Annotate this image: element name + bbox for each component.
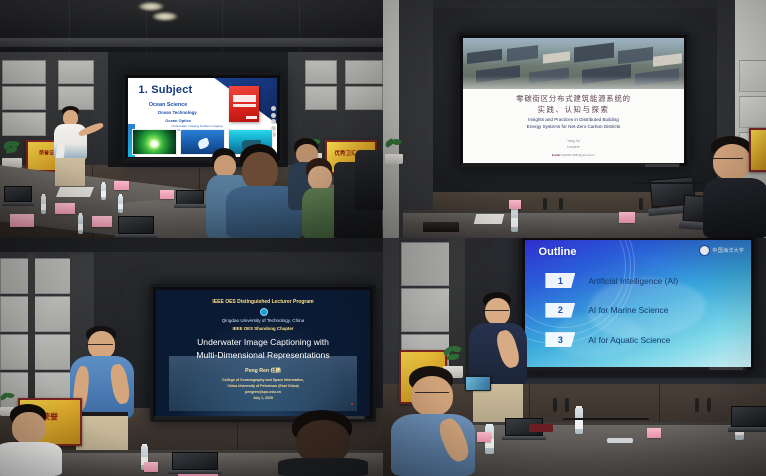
water-bottle [41, 196, 46, 214]
slide-author-email: E-mail: 901020170087@gdut.edu.cn [463, 154, 684, 157]
remote-control [607, 438, 633, 443]
water-bottle [511, 206, 518, 232]
slide-author-block: Yang Xu Lecturer [463, 139, 684, 150]
slide-title-zh-line1: 零碳街区分布式建筑能源系统的 [463, 93, 684, 104]
cable [633, 182, 703, 184]
slide-program-line: IEEE OES Distinguished Lecturer Program [156, 299, 370, 305]
photo-collage: 1. Subject Ocean Science Ocean Technolog… [0, 0, 766, 476]
email-label: E-mail: [552, 154, 561, 157]
laptop [731, 406, 766, 432]
conference-room-scene: 零碳街区分布式建筑能源系统的 实践、认知与探索 Insights and Pra… [383, 0, 766, 238]
panel-top-right: 零碳街区分布式建筑能源系统的 实践、认知与探索 Insights and Pra… [383, 0, 766, 238]
laptop [4, 186, 32, 206]
notebook [529, 424, 553, 432]
outline-item-number: 3 [545, 332, 575, 347]
panel-top-left: 1. Subject Ocean Science Ocean Technolog… [0, 0, 383, 238]
torso [703, 178, 766, 238]
outline-item-label: AI for Marine Science [588, 305, 668, 315]
cable [563, 418, 649, 420]
wall-display: 零碳街区分布式建筑能源系统的 实践、认知与探索 Insights and Pra… [457, 32, 690, 169]
name-card [114, 181, 129, 190]
audience-member-front-right [278, 410, 368, 476]
slide-author-role: Lecturer [463, 145, 684, 150]
panel-bottom-right: Outline 中国海洋大学 1 Artificial Intelligence… [383, 238, 766, 476]
award-plaque [749, 128, 766, 172]
logo-ring-icon [699, 245, 710, 256]
potted-plant [385, 140, 403, 164]
notebook [423, 222, 459, 232]
water-bottle [575, 408, 583, 434]
outline-item: 1 Artificial Intelligence (AI) [545, 273, 739, 288]
slide-title-zh-line2: 实践、认知与探索 [463, 104, 684, 115]
name-card [619, 212, 635, 223]
outline-item-label: AI for Aquatic Science [588, 335, 670, 345]
glasses-icon [711, 158, 743, 161]
email-value: 901020170087@gdut.edu.cn [561, 154, 595, 157]
ceiling [0, 0, 383, 57]
slide-bullet-level3: Ocean Optics [165, 118, 191, 123]
glasses-icon [87, 344, 113, 347]
laser-pointer-dot [351, 403, 353, 405]
ceiling-light [152, 12, 178, 21]
office-chair [355, 150, 383, 210]
outline-item-number: 1 [545, 273, 575, 288]
outline-list: 1 Artificial Intelligence (AI) 2 AI for … [545, 273, 739, 362]
smartphone[interactable] [465, 376, 491, 391]
laptop [172, 452, 218, 474]
outline-item: 3 AI for Aquatic Science [545, 332, 739, 347]
outline-item: 2 AI for Marine Science [545, 303, 739, 318]
slide-title: 1. Subject [138, 84, 192, 96]
slide-bullet-level1: Ocean Science [149, 102, 187, 108]
laptop [118, 216, 154, 238]
slide-ieee-oes-title: IEEE OES Distinguished Lecturer Program … [156, 290, 370, 416]
outline-item-number: 2 [545, 303, 575, 318]
water-bottle [118, 196, 123, 213]
slide-outline: Outline 中国海洋大学 1 Artificial Intelligence… [525, 240, 751, 367]
slide-hero-photo [463, 38, 684, 89]
slide-date: July 1, 2025 [156, 395, 370, 401]
conference-room-scene: IEEE OES Distinguished Lecturer Program … [0, 238, 383, 476]
slide-title-en: Insights and Practices in Distributed Bu… [463, 116, 684, 131]
conference-room-scene: Outline 中国海洋大学 1 Artificial Intelligence… [383, 238, 766, 476]
potted-plant [2, 142, 22, 168]
head [411, 376, 453, 416]
slide-affiliation-block: College of Oceanography and Space Inform… [156, 377, 370, 402]
slide-speaker-name: Peng Ren 任鹏 [156, 367, 370, 374]
glasses-icon [415, 392, 449, 395]
book-cover-image [229, 86, 259, 122]
water-bottle [78, 215, 83, 234]
slide-chapter-line: IEEE OES Shandong Chapter [156, 326, 370, 331]
thumbnail-underwater-green [132, 129, 176, 155]
name-card [144, 462, 158, 472]
name-card [647, 428, 661, 438]
wall-display: IEEE OES Distinguished Lecturer Program … [150, 284, 376, 422]
slide-title-zero-carbon: 零碳街区分布式建筑能源系统的 实践、认知与探索 Insights and Pra… [463, 38, 684, 163]
name-card [477, 432, 491, 442]
glasses-icon [484, 310, 509, 313]
name-card [509, 200, 521, 209]
name-card [10, 214, 34, 227]
name-card [160, 190, 174, 199]
paper-sheet [474, 214, 504, 224]
conference-room-scene: 1. Subject Ocean Science Ocean Technolog… [0, 0, 383, 238]
university-logo: 中国海洋大学 [699, 245, 744, 256]
plaque-subtitle [327, 146, 375, 148]
ceiling-light [138, 2, 164, 11]
panel-bottom-left: IEEE OES Distinguished Lecturer Program … [0, 238, 383, 476]
presenter-navy-polo [469, 292, 529, 426]
name-card [92, 216, 112, 227]
laptop [176, 190, 204, 208]
logo-text: 中国海洋大学 [712, 247, 744, 254]
wall-display: Outline 中国海洋大学 1 Artificial Intelligence… [519, 238, 757, 373]
slide-bullet-level2: Ocean Technology [158, 110, 197, 115]
slide-title-line1: Underwater Image Captioning with [156, 337, 370, 347]
slide-title: Outline [539, 246, 577, 258]
head [713, 144, 751, 180]
outline-item-label: Artificial Intelligence (AI) [588, 276, 678, 286]
presenter-white-polo [50, 106, 100, 186]
attendee-taking-photo [391, 366, 475, 476]
audience-member-front-left [0, 404, 62, 476]
plaque-text [759, 143, 760, 147]
name-card [55, 203, 75, 214]
water-bottle [101, 184, 106, 200]
slide-host-line: Qingdao University of Technology, China [156, 318, 370, 323]
slide-title-line2: Multi-Dimensional Representations [156, 350, 370, 360]
